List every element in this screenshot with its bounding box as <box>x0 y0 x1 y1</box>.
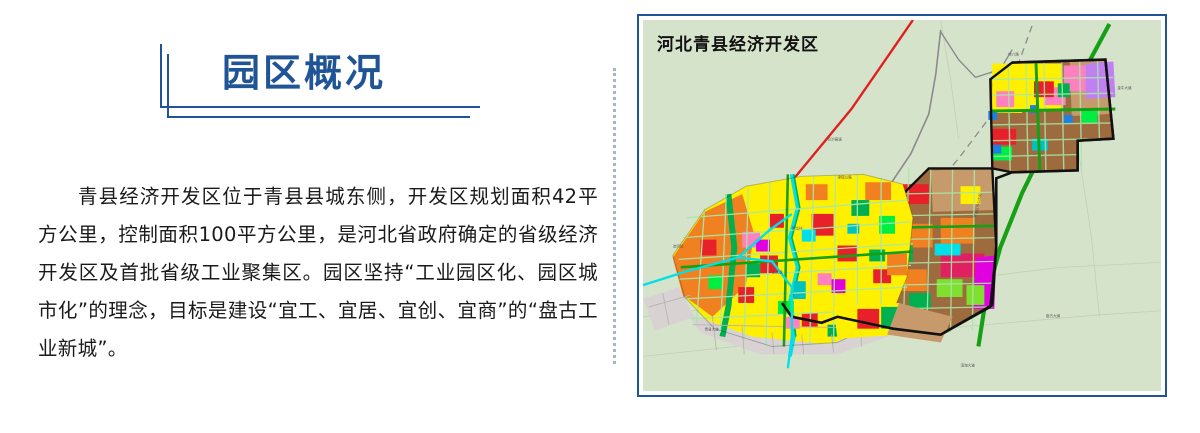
svg-text:流河镇: 流河镇 <box>673 244 684 249</box>
svg-text:东风路: 东风路 <box>772 269 783 274</box>
svg-text:青县大道: 青县大道 <box>705 327 720 332</box>
svg-text:金牛大道: 金牛大道 <box>1117 85 1132 90</box>
svg-text:京沪高速: 京沪高速 <box>828 137 843 142</box>
svg-text:津保公路: 津保公路 <box>837 174 852 179</box>
svg-text:新华村: 新华村 <box>792 226 803 231</box>
svg-text:盘古大道: 盘古大道 <box>1046 313 1061 318</box>
section-heading: 园区概况 <box>150 44 490 120</box>
svg-text:滨海大道: 滨海大道 <box>961 362 976 367</box>
page-title: 园区概况 <box>222 45 386 101</box>
map-title: 河北青县经济开发区 <box>657 30 819 55</box>
map-figure: 河北青县经济开发区 <box>643 20 1161 391</box>
zoning-map-image: 京沪高速 津保公路 新华村 东风路 青县大道 纬六路 金牛大道 开发区中心大街 … <box>643 20 1161 391</box>
svg-text:纬六路: 纬六路 <box>1008 52 1019 57</box>
text-column: 园区概况 青县经济开发区位于青县县城东侧，开发区规划面积42平方公里，控制面积1… <box>0 0 610 433</box>
overview-paragraph: 青县经济开发区位于青县县城东侧，开发区规划面积42平方公里，控制面积100平方公… <box>38 178 598 368</box>
column-divider <box>613 68 616 364</box>
map-panel: 河北青县经济开发区 <box>637 14 1167 397</box>
